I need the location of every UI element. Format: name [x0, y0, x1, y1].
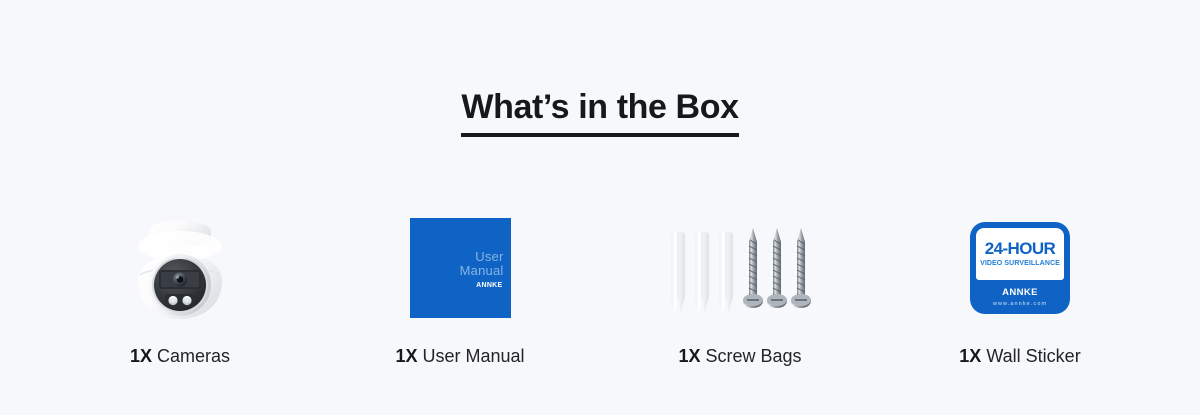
wall-anchor: [671, 231, 685, 312]
sticker-headline: 24-HOUR: [985, 240, 1055, 258]
manual-brand-logo: ANNKE: [476, 282, 502, 289]
manual-figure: User Manual ANNKE: [410, 208, 511, 328]
wall-anchor: [695, 231, 709, 312]
item-quantity: 1X: [959, 346, 981, 366]
screws-figure: [665, 208, 815, 328]
page-title: What’s in the Box: [461, 89, 738, 137]
wall-anchor: [719, 231, 733, 312]
list-item-user-manual: User Manual ANNKE 1X User Manual: [320, 208, 600, 367]
screw: [743, 228, 763, 308]
sticker-figure: 24-HOUR VIDEO SURVEILLANCE ANNKE www.ann…: [970, 208, 1070, 328]
item-quantity: 1X: [395, 346, 417, 366]
item-label: Cameras: [157, 346, 230, 366]
list-item-cameras: 1X Cameras: [40, 208, 320, 367]
item-caption: 1X Screw Bags: [678, 346, 801, 367]
item-quantity: 1X: [678, 346, 700, 366]
heading-section: What’s in the Box: [0, 0, 1200, 160]
dome-camera-icon: [121, 209, 239, 327]
item-label: Wall Sticker: [986, 346, 1080, 366]
item-caption: 1X User Manual: [395, 346, 524, 367]
item-caption: 1X Wall Sticker: [959, 346, 1080, 367]
sticker-white-panel: 24-HOUR VIDEO SURVEILLANCE: [976, 228, 1064, 280]
sticker-url: www.annke.com: [993, 301, 1047, 307]
manual-cover-line2: Manual: [460, 264, 504, 278]
manual-cover-title: User Manual: [460, 250, 504, 278]
screw: [767, 228, 787, 308]
item-quantity: 1X: [130, 346, 152, 366]
manual-cover-line1: User: [460, 250, 504, 264]
sticker-brand-logo: ANNKE: [1002, 287, 1038, 298]
wall-sticker-icon: 24-HOUR VIDEO SURVEILLANCE ANNKE www.ann…: [970, 222, 1070, 314]
screw: [791, 228, 811, 308]
sticker-subline: VIDEO SURVEILLANCE: [980, 260, 1060, 267]
item-caption: 1X Cameras: [130, 346, 230, 367]
camera-figure: [121, 208, 239, 328]
item-label: User Manual: [423, 346, 525, 366]
box-contents-list: 1X Cameras User Manual ANNKE 1X User Man…: [0, 208, 1200, 367]
list-item-screw-bags: 1X Screw Bags: [600, 208, 880, 367]
screws-and-anchors-icon: [665, 216, 815, 320]
item-label: Screw Bags: [706, 346, 802, 366]
list-item-wall-sticker: 24-HOUR VIDEO SURVEILLANCE ANNKE www.ann…: [880, 208, 1160, 367]
user-manual-icon: User Manual ANNKE: [410, 218, 511, 318]
